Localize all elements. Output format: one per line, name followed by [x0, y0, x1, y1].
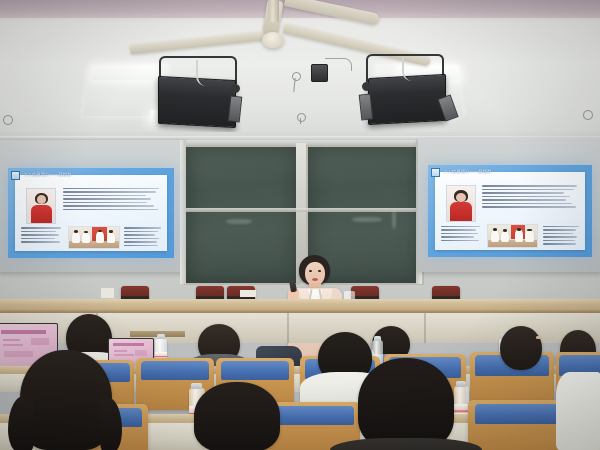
slide-right-title-bar: 个人信息简介——薛超群 — [431, 167, 588, 178]
water-bottle-4-cap — [456, 381, 466, 387]
water-bottle-5-cap — [191, 383, 202, 389]
person-badge-icon — [11, 171, 20, 180]
stage-light-left — [158, 76, 236, 128]
audience-hair-front-left-strand — [8, 396, 34, 450]
slide-left-title-bar: 个人信息简介——薛超群 — [11, 170, 170, 181]
slide-left-bottom-left-text — [21, 227, 61, 244]
slide-left: 个人信息简介——薛超群 — [8, 168, 174, 258]
hair-clip — [536, 336, 541, 339]
stage-light-left-cable — [196, 60, 216, 86]
slide-right-bullets — [482, 185, 577, 209]
presenter-eye-right — [318, 270, 321, 272]
water-bottle-2-cap — [374, 336, 381, 341]
slide-left-title: 个人信息简介——薛超群 — [23, 172, 71, 178]
fan-motor-housing — [262, 32, 284, 48]
water-bottle-1-cap — [157, 334, 165, 339]
audience-shoulders-front-right — [556, 372, 600, 450]
stage-light-right — [368, 74, 446, 125]
slide-right-portrait — [446, 185, 476, 222]
audience-head-front-center — [358, 358, 454, 450]
podium-panel-seam-2 — [287, 313, 289, 343]
lecture-hall-photo: 个人信息简介——薛超群 — [0, 0, 600, 450]
slide-right-photo — [487, 224, 538, 248]
stage-light-left-knob — [231, 84, 240, 93]
slide-right-bottom-right-text — [543, 226, 579, 247]
ceiling-hook-2 — [297, 113, 306, 122]
projector-cable — [325, 58, 352, 71]
slide-right-title: 个人信息简介——薛超群 — [443, 169, 491, 175]
ceiling-panel-light-left-tube — [91, 66, 155, 80]
projection-screen-right: 个人信息简介——薛超群 — [428, 165, 592, 257]
ceiling-hook-right-wall — [583, 110, 593, 120]
audience-shoulders-front-center — [330, 438, 482, 450]
podium-panel-seam-3 — [424, 313, 426, 343]
podium-paper-1 — [101, 288, 114, 298]
slide-left-bullets — [63, 188, 159, 212]
presenter-eye-left — [309, 270, 312, 272]
slide-right-bottom-left-text — [441, 226, 480, 243]
audience-head-mid-right — [500, 326, 542, 370]
chalkboard-left-frame — [180, 140, 186, 284]
ceiling-hook-left-wall — [3, 115, 13, 125]
chalkboard-panel-left — [184, 145, 300, 285]
stage-light-right-barndoor — [359, 93, 374, 120]
ceiling-hook-1 — [292, 72, 301, 81]
chalkboard-middle-rail — [184, 208, 420, 212]
podium-paper-2 — [240, 290, 256, 297]
ceiling-hook-2-tail — [300, 118, 301, 124]
fan-downrod — [268, 0, 279, 22]
projection-screen-left: 个人信息简介——薛超群 — [8, 168, 174, 258]
presenter-mouth — [312, 278, 318, 281]
stage-light-right-cable — [402, 57, 420, 81]
slide-right: 个人信息简介——薛超群 — [428, 165, 592, 257]
audience-head-front-right-of-left — [194, 382, 280, 450]
stage-light-right-knob — [362, 82, 371, 91]
slide-left-bottom-right-text — [124, 227, 161, 248]
person-badge-icon — [431, 168, 440, 177]
slide-left-photo — [68, 226, 120, 250]
slide-left-portrait — [26, 188, 56, 224]
